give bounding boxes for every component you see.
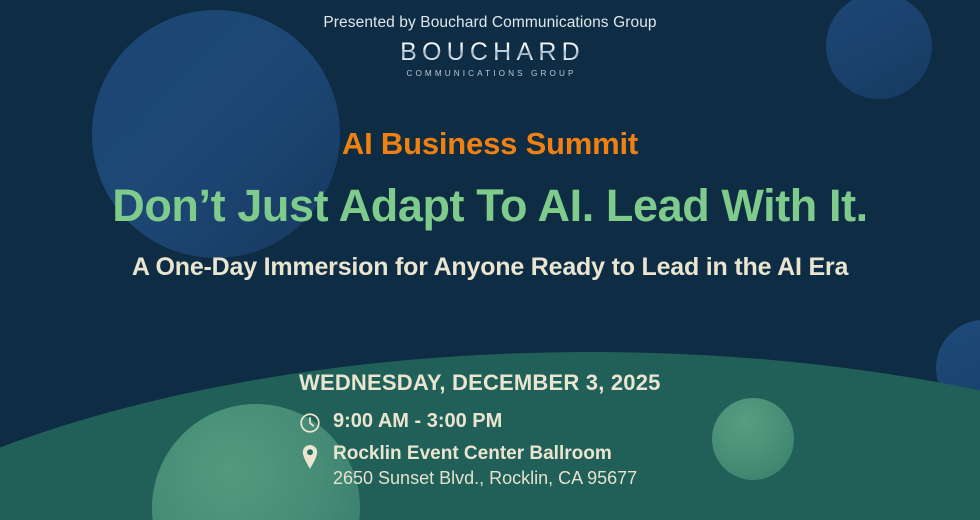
bouchard-logo: BOUCHARD COMMUNICATIONS GROUP	[0, 40, 980, 78]
event-location-row: Rocklin Event Center Ballroom 2650 Sunse…	[299, 443, 661, 490]
event-time-row: 9:00 AM - 3:00 PM	[299, 411, 661, 434]
event-name-eyebrow: AI Business Summit	[0, 126, 980, 162]
logo-tagline: COMMUNICATIONS GROUP	[0, 69, 980, 78]
venue-block: Rocklin Event Center Ballroom 2650 Sunse…	[325, 443, 637, 490]
subheadline: A One-Day Immersion for Anyone Ready to …	[0, 253, 980, 282]
event-date: WEDNESDAY, DECEMBER 3, 2025	[299, 372, 661, 394]
event-time: 9:00 AM - 3:00 PM	[325, 411, 502, 432]
logo-wordmark: BOUCHARD	[0, 40, 980, 65]
presenter-line: Presented by Bouchard Communications Gro…	[0, 14, 980, 32]
map-pin-icon	[299, 443, 325, 470]
banner-content: Presented by Bouchard Communications Gro…	[0, 0, 980, 520]
clock-icon	[299, 411, 325, 434]
venue-address: 2650 Sunset Blvd., Rocklin, CA 95677	[333, 467, 637, 490]
event-details: WEDNESDAY, DECEMBER 3, 2025 9:00 AM - 3:…	[299, 372, 661, 499]
headline: Don’t Just Adapt To AI. Lead With It.	[0, 180, 980, 232]
venue-name: Rocklin Event Center Ballroom	[333, 443, 637, 465]
event-banner: Presented by Bouchard Communications Gro…	[0, 0, 980, 520]
